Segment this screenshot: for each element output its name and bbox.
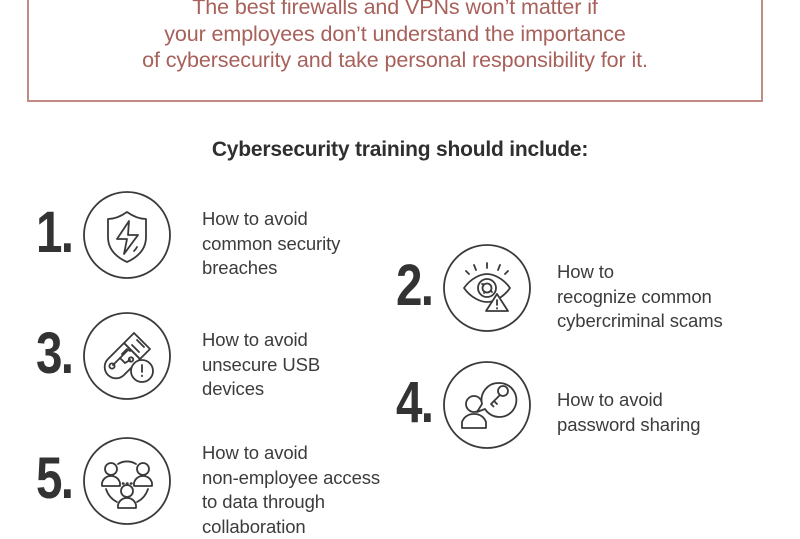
item-text-4: How to avoid password sharing	[557, 388, 767, 437]
item-text-1: How to avoid common security breaches	[202, 207, 402, 281]
item-number-3: 3.	[36, 325, 74, 383]
list-item-3: 3. How to avoid unsecure USB devices	[36, 311, 402, 402]
collaboration-people-icon	[82, 436, 172, 526]
shield-lightning-icon	[82, 190, 172, 280]
list-item-1: 1. How to avoid common security breaches	[36, 190, 402, 281]
page-title: Cybersecurity training should include:	[0, 138, 800, 162]
list-item-2: 2. How to recognize common cybercriminal…	[396, 243, 767, 334]
item-text-2: How to recognize common cybercriminal sc…	[557, 260, 767, 334]
item-number-2: 2.	[396, 257, 434, 315]
eye-warning-icon	[442, 243, 532, 333]
item-text-3: How to avoid unsecure USB devices	[202, 328, 402, 402]
item-number-4: 4.	[396, 374, 434, 432]
item-number-5: 5.	[36, 450, 74, 508]
quote-text: The best firewalls and VPNs won’t matter…	[27, 0, 763, 74]
list-item-4: 4. How to avoid password sharing	[396, 360, 767, 450]
list-item-5: 5. How to avoid non-employee access to d…	[36, 436, 417, 539]
item-number-1: 1.	[36, 204, 74, 262]
item-text-5: How to avoid non-employee access to data…	[202, 441, 417, 539]
usb-warning-icon	[82, 311, 172, 401]
person-key-bubble-icon	[442, 360, 532, 450]
